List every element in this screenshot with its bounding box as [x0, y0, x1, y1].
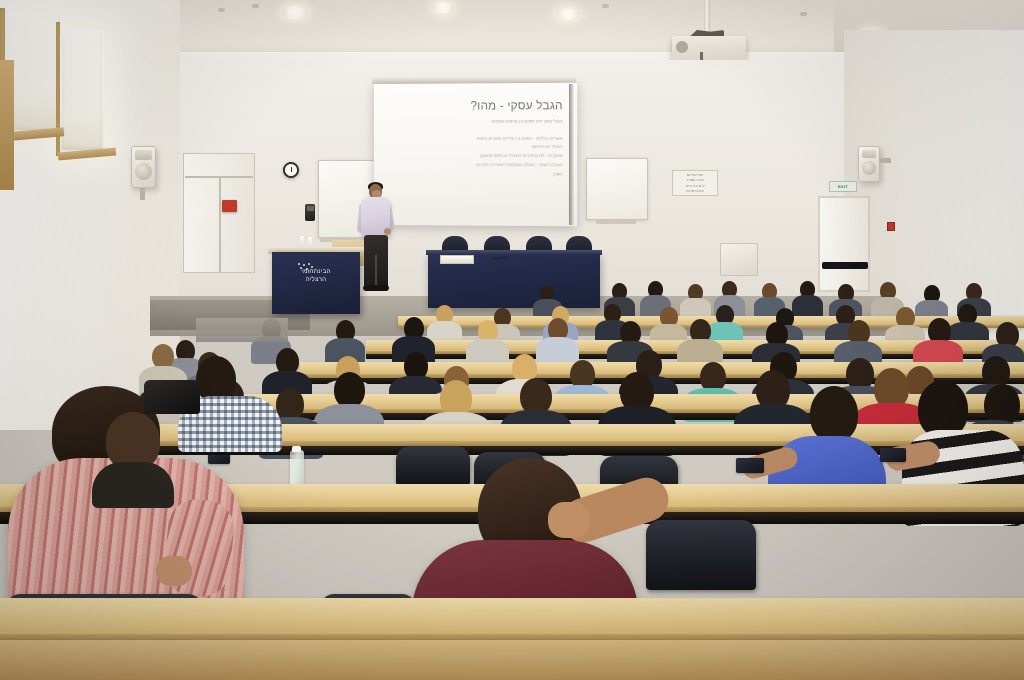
exit-door[interactable] — [818, 196, 870, 292]
wall-phone-icon[interactable] — [305, 204, 315, 221]
lectern-logo-line-1: הבינתחומי — [272, 268, 360, 276]
pa-woofer-icon — [862, 161, 876, 175]
wall-sign-line-3: ע"ש בנו גיתר — [685, 184, 704, 188]
presenter-hand — [384, 228, 391, 235]
window-blind[interactable] — [62, 34, 102, 150]
downlight-icon — [432, 2, 454, 13]
ceiling-fixture — [218, 8, 225, 12]
hand — [156, 556, 192, 586]
lectern: הבינתחומי הרצליה — [272, 252, 360, 314]
backpack — [144, 380, 200, 414]
desk-row-1 — [0, 598, 1024, 644]
lectern-logo: הבינתחומי הרצליה — [272, 268, 360, 284]
wall-sign-line-4: אוניברסיטה — [686, 189, 703, 193]
slide-bullet: הגבלה רשות - הגבלה מוסכמת המציירת תחרות — [386, 161, 563, 170]
door-split-line — [219, 177, 221, 272]
window-reveal — [0, 60, 14, 190]
aisle-steps — [196, 318, 288, 342]
slide-subtitle: הגבל עסקי הינו הסכם בין גורמים עסקיים — [386, 118, 563, 125]
downlight-icon — [282, 6, 308, 19]
fire-exit-sign-icon — [222, 200, 237, 212]
slide-bullet: בשוק — [386, 170, 563, 179]
small-bottle — [300, 236, 304, 247]
exit-sign-icon: EXIT — [829, 181, 857, 192]
downlight-icon — [556, 8, 580, 20]
seat — [396, 446, 470, 486]
pa-tweeter-icon — [862, 150, 876, 158]
seat — [646, 520, 756, 590]
desk-row-1-front — [0, 640, 1024, 680]
slide-bullet: מוצרים כוללים - הסכם בין צדדים עסקיים בא… — [386, 134, 563, 143]
lecture-hall-scene: אודיטוריום מרכז קסירר ע"ש בנו גיתר אוניב… — [0, 0, 1024, 680]
exit-door-push-bar[interactable] — [822, 262, 868, 269]
pa-speaker-bracket — [879, 158, 891, 163]
screen-shadow-edge — [569, 84, 574, 225]
whiteboard-right — [586, 158, 648, 220]
fire-alarm-icon[interactable] — [887, 222, 895, 231]
auditorium-wall-sign: אודיטוריום מרכז קסירר ע"ש בנו גיתר אוניב… — [672, 170, 718, 196]
pa-tweeter-icon — [135, 150, 152, 160]
projection-screen: הגבל עסקי - מהו? הגבל עסקי הינו הסכם בין… — [374, 83, 577, 227]
ceiling-fixture — [800, 12, 807, 16]
slide-bullets: מוצרים כוללים - הסכם בין צדדים עסקיים בא… — [386, 134, 563, 179]
whiteboard-tray — [596, 220, 636, 224]
slide-bullet: אופקיים - לא מתחרים למעלה מ-50% מהשוק — [386, 152, 563, 161]
bottle-cap — [292, 446, 301, 452]
ceiling-fixture — [252, 4, 259, 8]
exit-sign-label: EXIT — [838, 184, 848, 189]
pa-speaker-bracket — [140, 188, 145, 200]
slide-bullet: המגזר או התחום — [386, 143, 563, 152]
lectern-logo-line-2: הרצליה — [272, 276, 360, 284]
wall-sign-line-2: מרכז קסירר — [686, 178, 704, 182]
slide-title: הגבל עסקי - מהו? — [386, 100, 563, 113]
ceiling-fixture — [602, 4, 609, 8]
presenter-shoes — [363, 285, 389, 291]
slide-content: הגבל עסקי - מהו? הגבל עסקי הינו הסכם בין… — [374, 83, 577, 227]
wall-cabinet — [720, 243, 758, 276]
name-card — [440, 255, 474, 264]
presenter-leg-gap — [375, 255, 377, 287]
hand — [548, 502, 590, 538]
wall-sign-line-1: אודיטוריום — [687, 173, 703, 177]
pa-woofer-icon — [135, 163, 152, 180]
projector-lens-icon — [676, 41, 688, 53]
wall-clock-icon — [283, 162, 299, 178]
